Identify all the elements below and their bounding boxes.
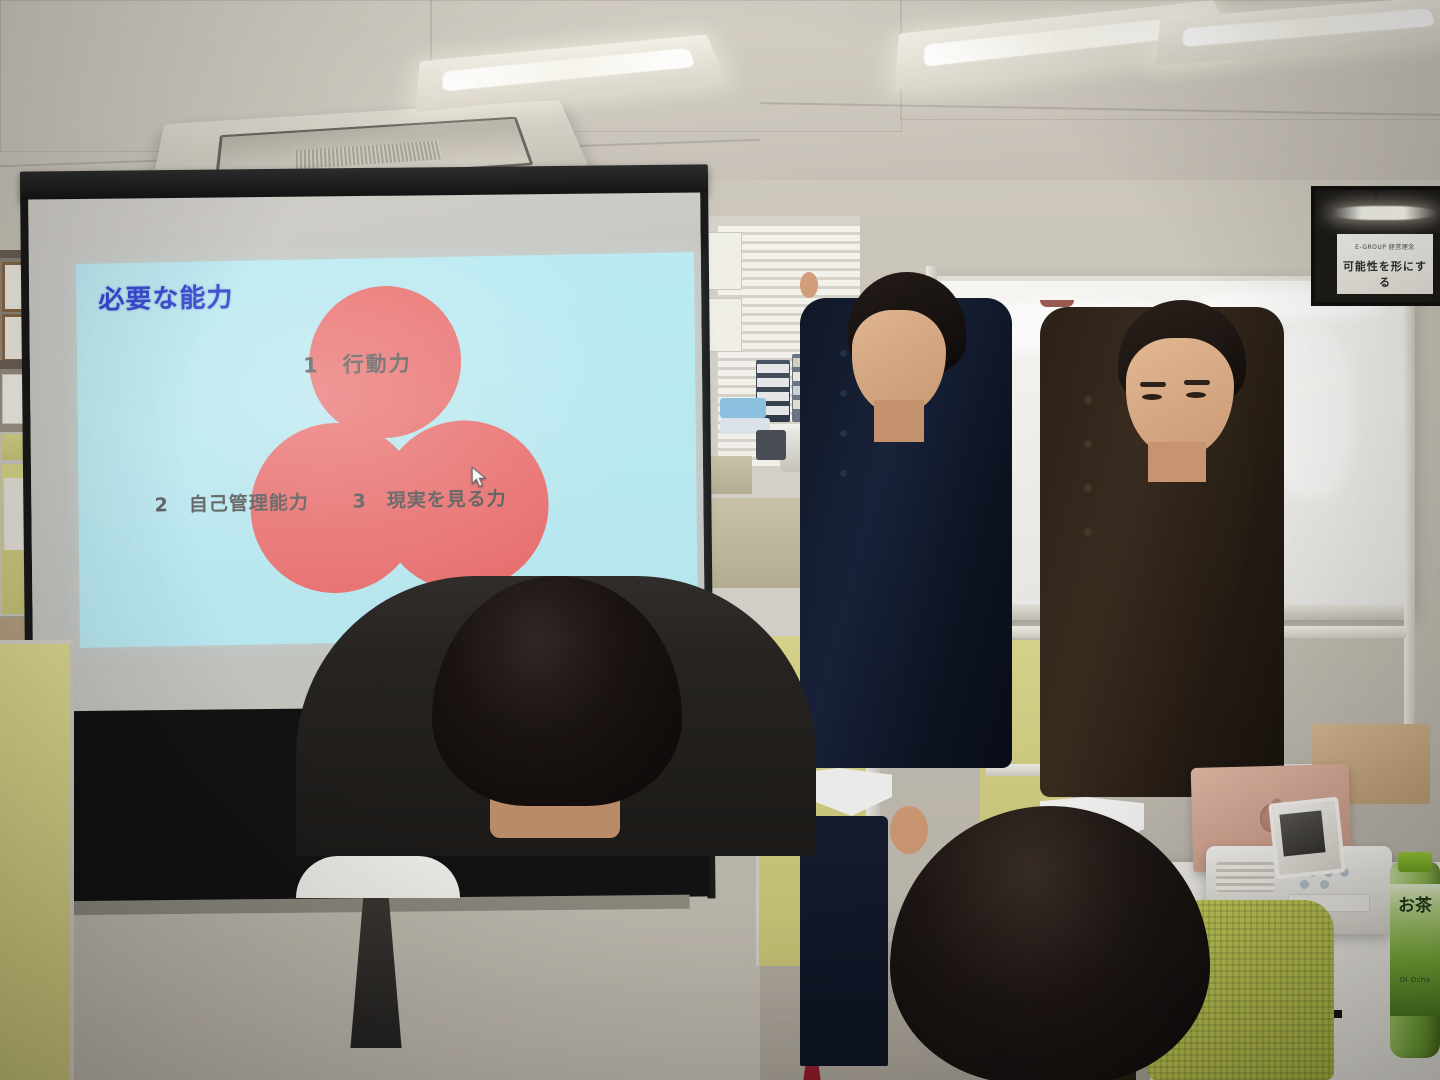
attendee-shirt-collar [296,856,460,898]
bottle-brand-main: お茶 [1390,898,1440,916]
bottle-cap [1398,852,1432,872]
seated-attendee-right [890,806,1220,1080]
slide-title: 必要な能力 [98,277,233,317]
venn-label-1: 1 行動力 [303,348,412,380]
picture-light-icon [1329,206,1437,220]
seated-attendee-front [296,576,816,1080]
bottle-brand-sub: Oi Ocha [1390,976,1440,984]
bottle-label: お茶 Oi Ocha [1390,884,1440,1016]
whiteboard-leg [1404,266,1415,786]
presentation-room-photo: 必要な能力 1 行動力 2 自己管理能力 3 現実を見る力 [0,0,1440,1080]
venn-label-3: 3 現実を見る力 [352,484,506,514]
venn-diagram: 1 行動力 2 自己管理能力 3 現実を見る力 [244,284,507,619]
attendee-hair [890,806,1210,1080]
framed-plaque: E-GROUP 経営理念 可能性を形にする [1311,186,1440,306]
cubicle-panel-left [0,640,74,1080]
plaque-line-2: 可能性を形にする [1337,258,1433,290]
document-camera-screen [1268,797,1346,880]
venn-label-2: 2 自己管理能力 [154,488,308,518]
plaque-line-1: E-GROUP 経営理念 [1337,242,1433,251]
